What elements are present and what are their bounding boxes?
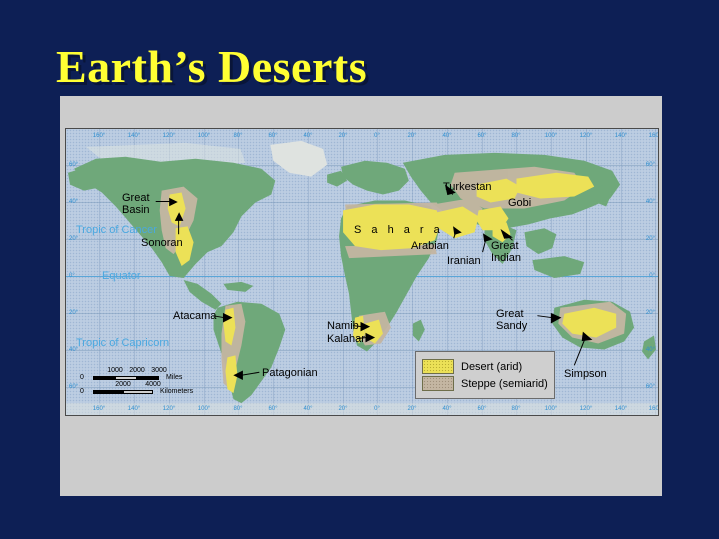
scale-km-zero: 0 [80,388,90,395]
map-legend[interactable]: Desert (arid) Steppe (semiarid) [415,351,555,399]
scale-miles-3000: 3000 [151,367,167,374]
tick-lat-60s-left: 60° [69,384,78,390]
scale-km-unit: Kilometers [160,388,193,395]
label-patagonian: Patagonian [262,368,318,380]
tick-lon-140w-top: 140° [128,133,140,139]
world-desert-map[interactable]: 160° 140° 120° 100° 80° 60° 40° 20° 0° 2… [65,128,659,416]
tick-lat-40n-right: 40° [646,199,655,205]
tropic-of-capricorn-label: Tropic of Capricorn [76,337,169,349]
tick-lon-20w-bot: 20° [338,406,347,412]
tick-lon-40e-bot: 40° [442,406,451,412]
label-kalahari: Kalahari [327,334,367,346]
tick-lon-20w-top: 20° [338,133,347,139]
tick-lon-100e-top: 100° [545,133,557,139]
tick-lon-0-bot: 0° [374,406,380,412]
label-great-basin-line1: Great [122,193,150,205]
tick-lon-160w-top: 160° [93,133,105,139]
legend-swatch-steppe [422,376,454,391]
label-simpson: Simpson [564,369,607,381]
tick-lon-100w-bot: 100° [198,406,210,412]
scale-line-miles: 0 1000 2000 3000 Miles [80,372,193,383]
tick-lon-120e-bot: 120° [580,406,592,412]
scale-miles-1000: 1000 [107,367,123,374]
scale-line-kilometers: 0 2000 4000 Kilometers [80,386,193,397]
label-sahara: S a h a r a [354,225,443,237]
label-great-sandy-line1: Great [496,309,524,321]
tick-lat-0-right: 0° [649,273,655,279]
label-arabian: Arabian [411,241,449,253]
equator-label: Equator [102,270,141,282]
tick-lon-40e-top: 40° [442,133,451,139]
legend-label-steppe: Steppe (semiarid) [461,378,548,390]
label-gobi: Gobi [508,198,531,210]
tick-lon-0-top: 0° [374,133,380,139]
tropic-of-cancer-label: Tropic of Cancer [76,224,157,236]
tick-lon-40w-bot: 40° [303,406,312,412]
tick-lon-100e-bot: 100° [545,406,557,412]
tick-lat-20n-left: 20° [69,236,78,242]
tick-lon-80w-bot: 80° [233,406,242,412]
label-iranian: Iranian [447,256,481,268]
legend-swatch-desert [422,359,454,374]
tick-lat-40n-left: 40° [69,199,78,205]
tick-lon-20e-top: 20° [407,133,416,139]
tick-lon-60e-top: 60° [477,133,486,139]
label-great-indian-line1: Great [491,241,519,253]
scale-miles-unit: Miles [166,374,182,381]
tick-lon-160e-bot: 160° [649,406,659,412]
tick-lat-0-left: 0° [69,273,75,279]
tick-lon-80e-top: 80° [511,133,520,139]
tick-lat-20s-right: 20° [646,310,655,316]
tick-lat-40s-right: 40° [646,347,655,353]
scale-miles-track: 1000 2000 3000 [93,376,159,380]
label-great-sandy-line2: Sandy [496,321,527,333]
tick-lon-100w-top: 100° [198,133,210,139]
scale-km-2000: 2000 [115,381,131,388]
tick-lat-20s-left: 20° [69,310,78,316]
tick-lon-80e-bot: 80° [511,406,520,412]
tick-lon-80w-top: 80° [233,133,242,139]
legend-item-steppe: Steppe (semiarid) [422,376,548,391]
label-great-basin-line2: Basin [122,205,150,217]
tick-lon-60w-top: 60° [268,133,277,139]
scale-km-4000: 4000 [145,381,161,388]
label-sonoran: Sonoran [141,238,183,250]
tick-lat-60n-right: 60° [646,162,655,168]
label-turkestan: Turkestan [443,182,492,194]
scale-km-track: 2000 4000 [93,390,153,394]
tick-lon-160w-bot: 160° [93,406,105,412]
tick-lon-120w-top: 120° [163,133,175,139]
legend-label-desert: Desert (arid) [461,361,522,373]
tick-lat-60s-right: 60° [646,384,655,390]
tick-lon-160e-top: 160° [649,133,659,139]
tick-lon-60e-bot: 60° [477,406,486,412]
scale-miles-2000: 2000 [129,367,145,374]
tick-lon-140e-bot: 140° [615,406,627,412]
label-great-indian-line2: Indian [491,253,521,265]
label-atacama: Atacama [173,311,216,323]
tick-lon-40w-top: 40° [303,133,312,139]
map-scale-bar: 0 1000 2000 3000 Miles 0 2000 4000 [80,372,193,397]
content-panel: 160° 140° 120° 100° 80° 60° 40° 20° 0° 2… [60,96,662,496]
tick-lat-60n-left: 60° [69,162,78,168]
scale-miles-zero: 0 [80,374,90,381]
label-namib: Namib [327,321,359,333]
tick-lon-120w-bot: 120° [163,406,175,412]
tick-lon-120e-top: 120° [580,133,592,139]
tick-lon-140w-bot: 140° [128,406,140,412]
tick-lon-60w-bot: 60° [268,406,277,412]
legend-item-desert: Desert (arid) [422,359,548,374]
page-title: Earth’s Deserts [56,40,367,93]
tick-lon-20e-bot: 20° [407,406,416,412]
tick-lon-140e-top: 140° [615,133,627,139]
tick-lat-20n-right: 20° [646,236,655,242]
